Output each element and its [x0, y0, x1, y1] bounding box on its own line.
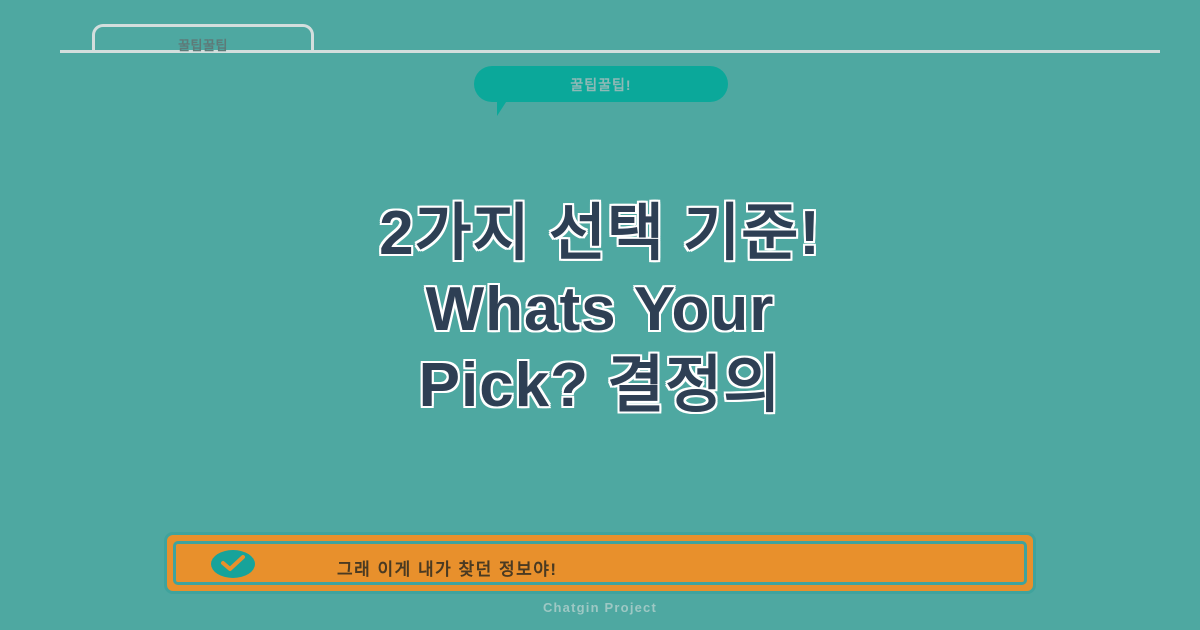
page-canvas: 꿀팁꿀팁 꿀팁꿀팁! 2가지 선택 기준! Whats Your Pick? 결… [0, 0, 1200, 630]
footer-brand: Chatgin Project [0, 600, 1200, 615]
browser-tab-strip: 꿀팁꿀팁 [0, 0, 1200, 56]
speech-bubble-tail-icon [497, 99, 522, 116]
page-title: 2가지 선택 기준! Whats Your Pick? 결정의 [0, 196, 1200, 424]
browser-tab-label: 꿀팁꿀팁 [92, 35, 314, 54]
check-circle-icon [211, 550, 255, 578]
headline-line-2: Whats Your [0, 272, 1200, 348]
speech-bubble: 꿀팁꿀팁! [474, 66, 728, 118]
headline-line-1: 2가지 선택 기준! [0, 196, 1200, 272]
speech-bubble-text: 꿀팁꿀팁! [474, 75, 728, 95]
cta-inner-border [173, 541, 1027, 585]
cta-label: 그래 이게 내가 찾던 정보야! [337, 555, 558, 580]
headline-line-3: Pick? 결정의 [0, 348, 1200, 424]
cta-banner[interactable]: 그래 이게 내가 찾던 정보야! [164, 532, 1036, 594]
